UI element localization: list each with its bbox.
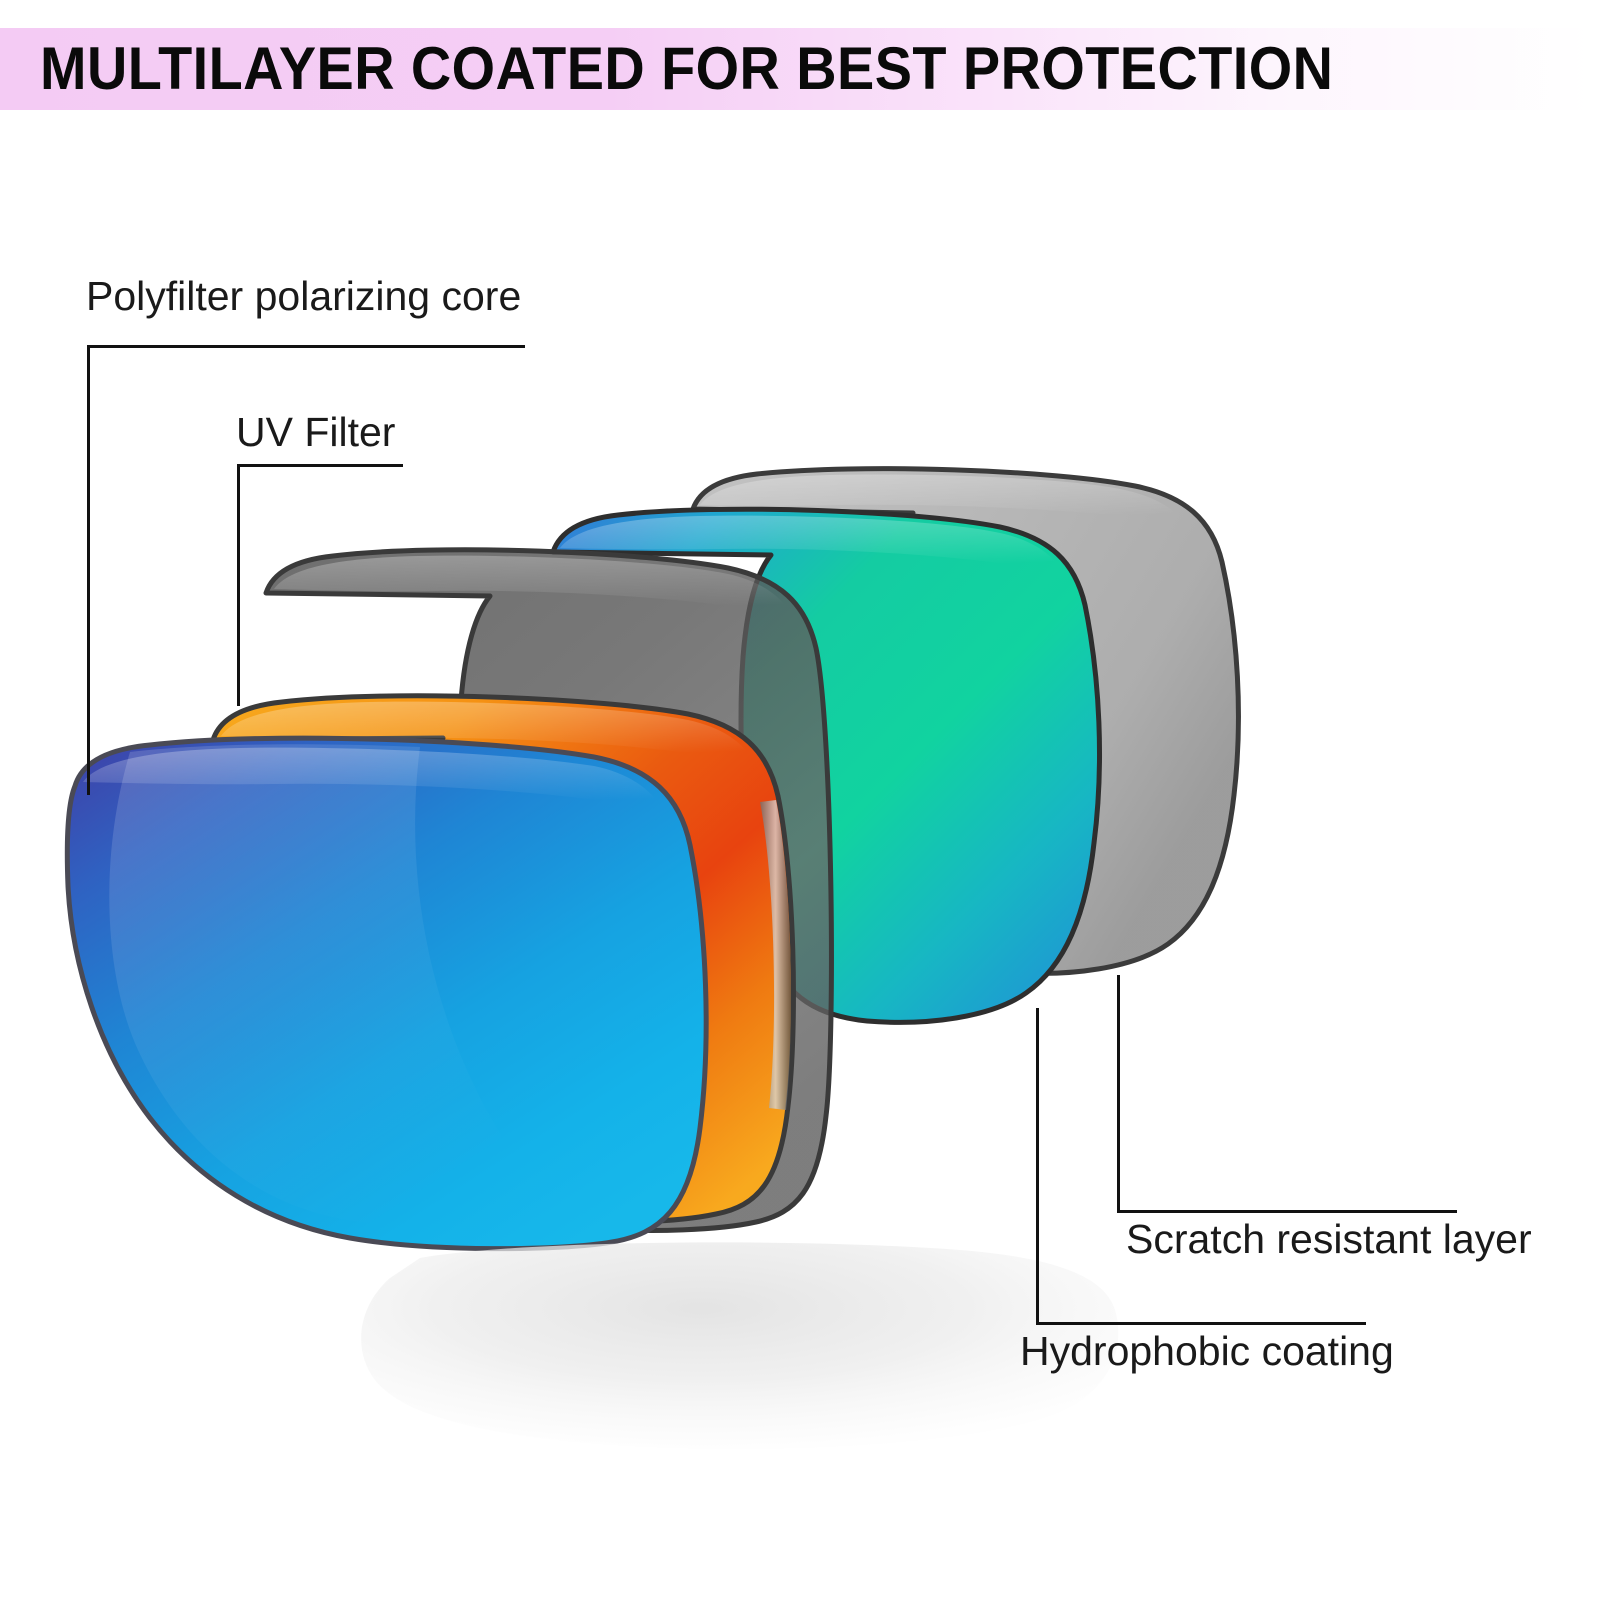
lens-reflection [361, 1242, 1118, 1448]
infographic-canvas: MULTILAYER COATED FOR BEST PROTECTION [0, 0, 1600, 1600]
callout-label-polyfilter-polarizing-core: Polyfilter polarizing core [86, 272, 521, 320]
leader-horizontal [1036, 1322, 1366, 1325]
callout-label-uv-filter: UV Filter [236, 408, 395, 456]
leader-vertical [87, 345, 90, 795]
layer-polarizing-core [67, 738, 706, 1249]
leader-vertical [237, 464, 240, 706]
callout-label-scratch-resistant-layer: Scratch resistant layer [1126, 1215, 1532, 1263]
leader-vertical [1117, 975, 1120, 1213]
leader-vertical [1036, 1008, 1039, 1325]
leader-horizontal [237, 464, 403, 467]
leader-horizontal [87, 345, 525, 348]
callout-label-hydrophobic-coating: Hydrophobic coating [1020, 1327, 1394, 1375]
leader-horizontal [1117, 1210, 1457, 1213]
